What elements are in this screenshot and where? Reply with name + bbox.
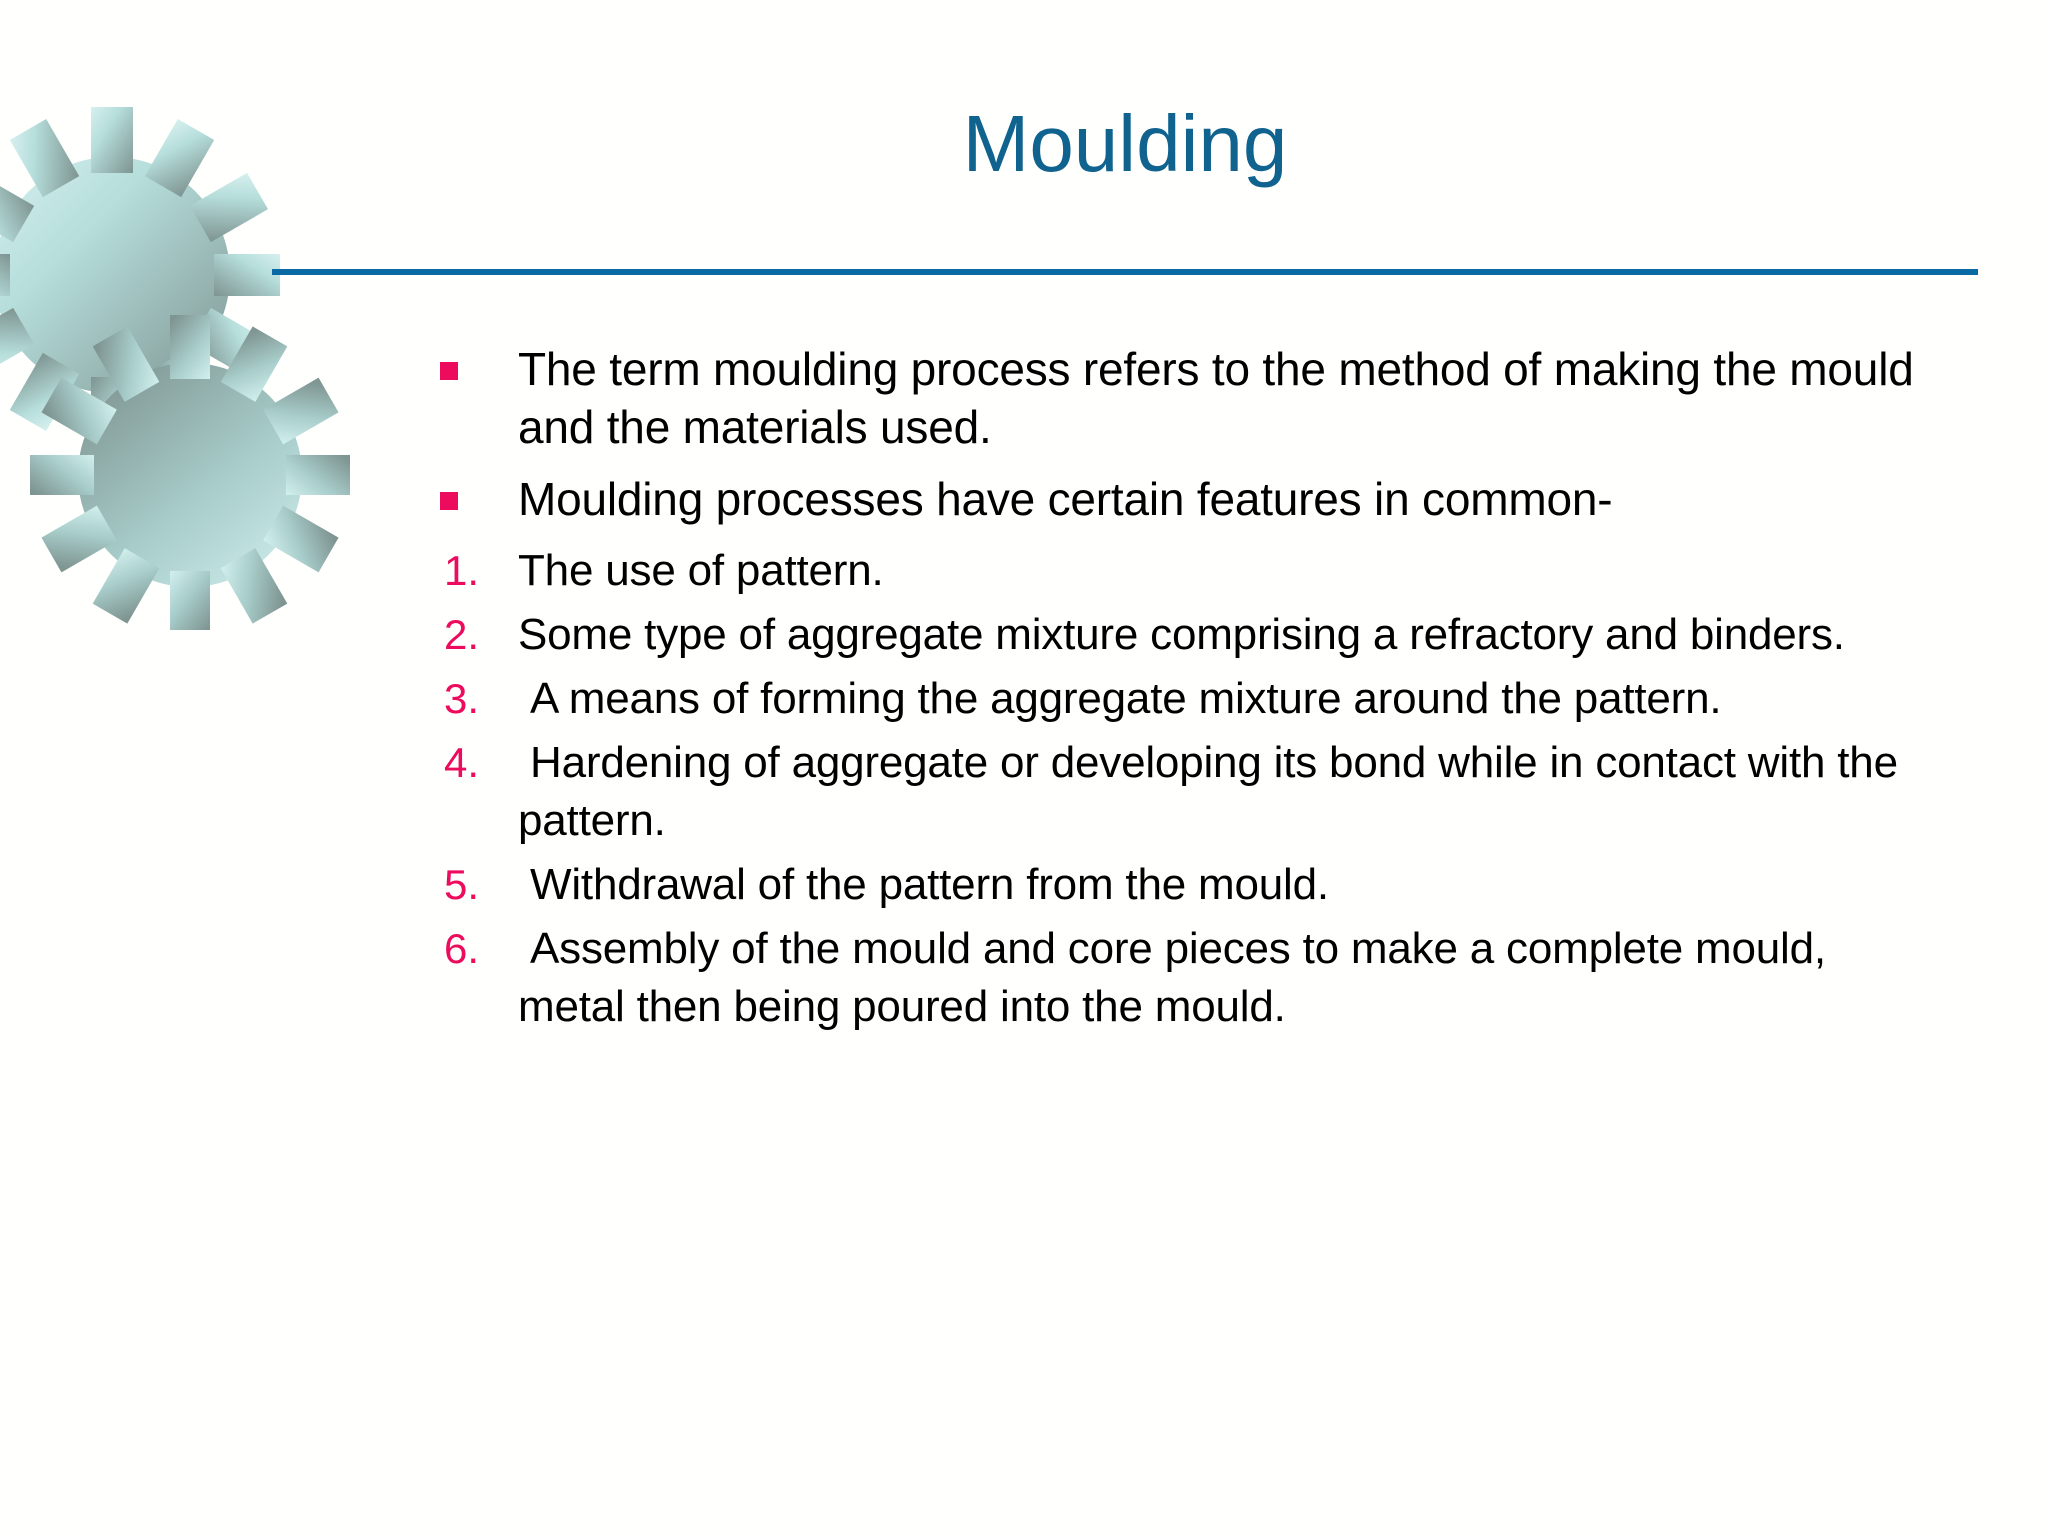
- gear-icon: [30, 315, 350, 630]
- list-item: The term moulding process refers to the …: [440, 340, 1940, 456]
- list-item: 1. The use of pattern.: [440, 542, 1940, 600]
- list-item: Moulding processes have certain features…: [440, 470, 1940, 528]
- square-bullet-icon: [440, 362, 458, 380]
- square-bullet-icon: [440, 492, 458, 510]
- list-item: 3. A means of forming the aggregate mixt…: [440, 670, 1940, 728]
- list-item-text: The term moulding process refers to the …: [518, 340, 1940, 456]
- list-item-number: 2.: [440, 606, 518, 664]
- page-title: Moulding: [272, 96, 1978, 192]
- list-item-number: 5.: [440, 856, 518, 914]
- list-item-text: Moulding processes have certain features…: [518, 470, 1940, 528]
- list-item-number: 1.: [440, 542, 518, 600]
- list-item-text: Withdrawal of the pattern from the mould…: [518, 856, 1940, 914]
- bullet-marker: [440, 470, 518, 510]
- list-item-number: 3.: [440, 670, 518, 728]
- title-block: Moulding: [272, 96, 1978, 276]
- list-item: 6. Assembly of the mould and core pieces…: [440, 920, 1940, 1036]
- list-item: 5. Withdrawal of the pattern from the mo…: [440, 856, 1940, 914]
- list-item-text: Hardening of aggregate or developing its…: [518, 734, 1940, 850]
- list-item-text: The use of pattern.: [518, 542, 1940, 600]
- title-divider: [272, 269, 1978, 275]
- bullet-marker: [440, 340, 518, 380]
- list-item-text: Some type of aggregate mixture comprisin…: [518, 606, 1940, 664]
- list-item: 2. Some type of aggregate mixture compri…: [440, 606, 1940, 664]
- list-item-text: Assembly of the mould and core pieces to…: [518, 920, 1940, 1036]
- list-item-text: A means of forming the aggregate mixture…: [518, 670, 1940, 728]
- slide-canvas: Moulding The term moulding process refer…: [0, 0, 2048, 1536]
- slide-body: The term moulding process refers to the …: [440, 340, 1940, 1042]
- list-item: 4. Hardening of aggregate or developing …: [440, 734, 1940, 850]
- list-item-number: 6.: [440, 920, 518, 978]
- gear-icon: [0, 107, 280, 443]
- list-item-number: 4.: [440, 734, 518, 792]
